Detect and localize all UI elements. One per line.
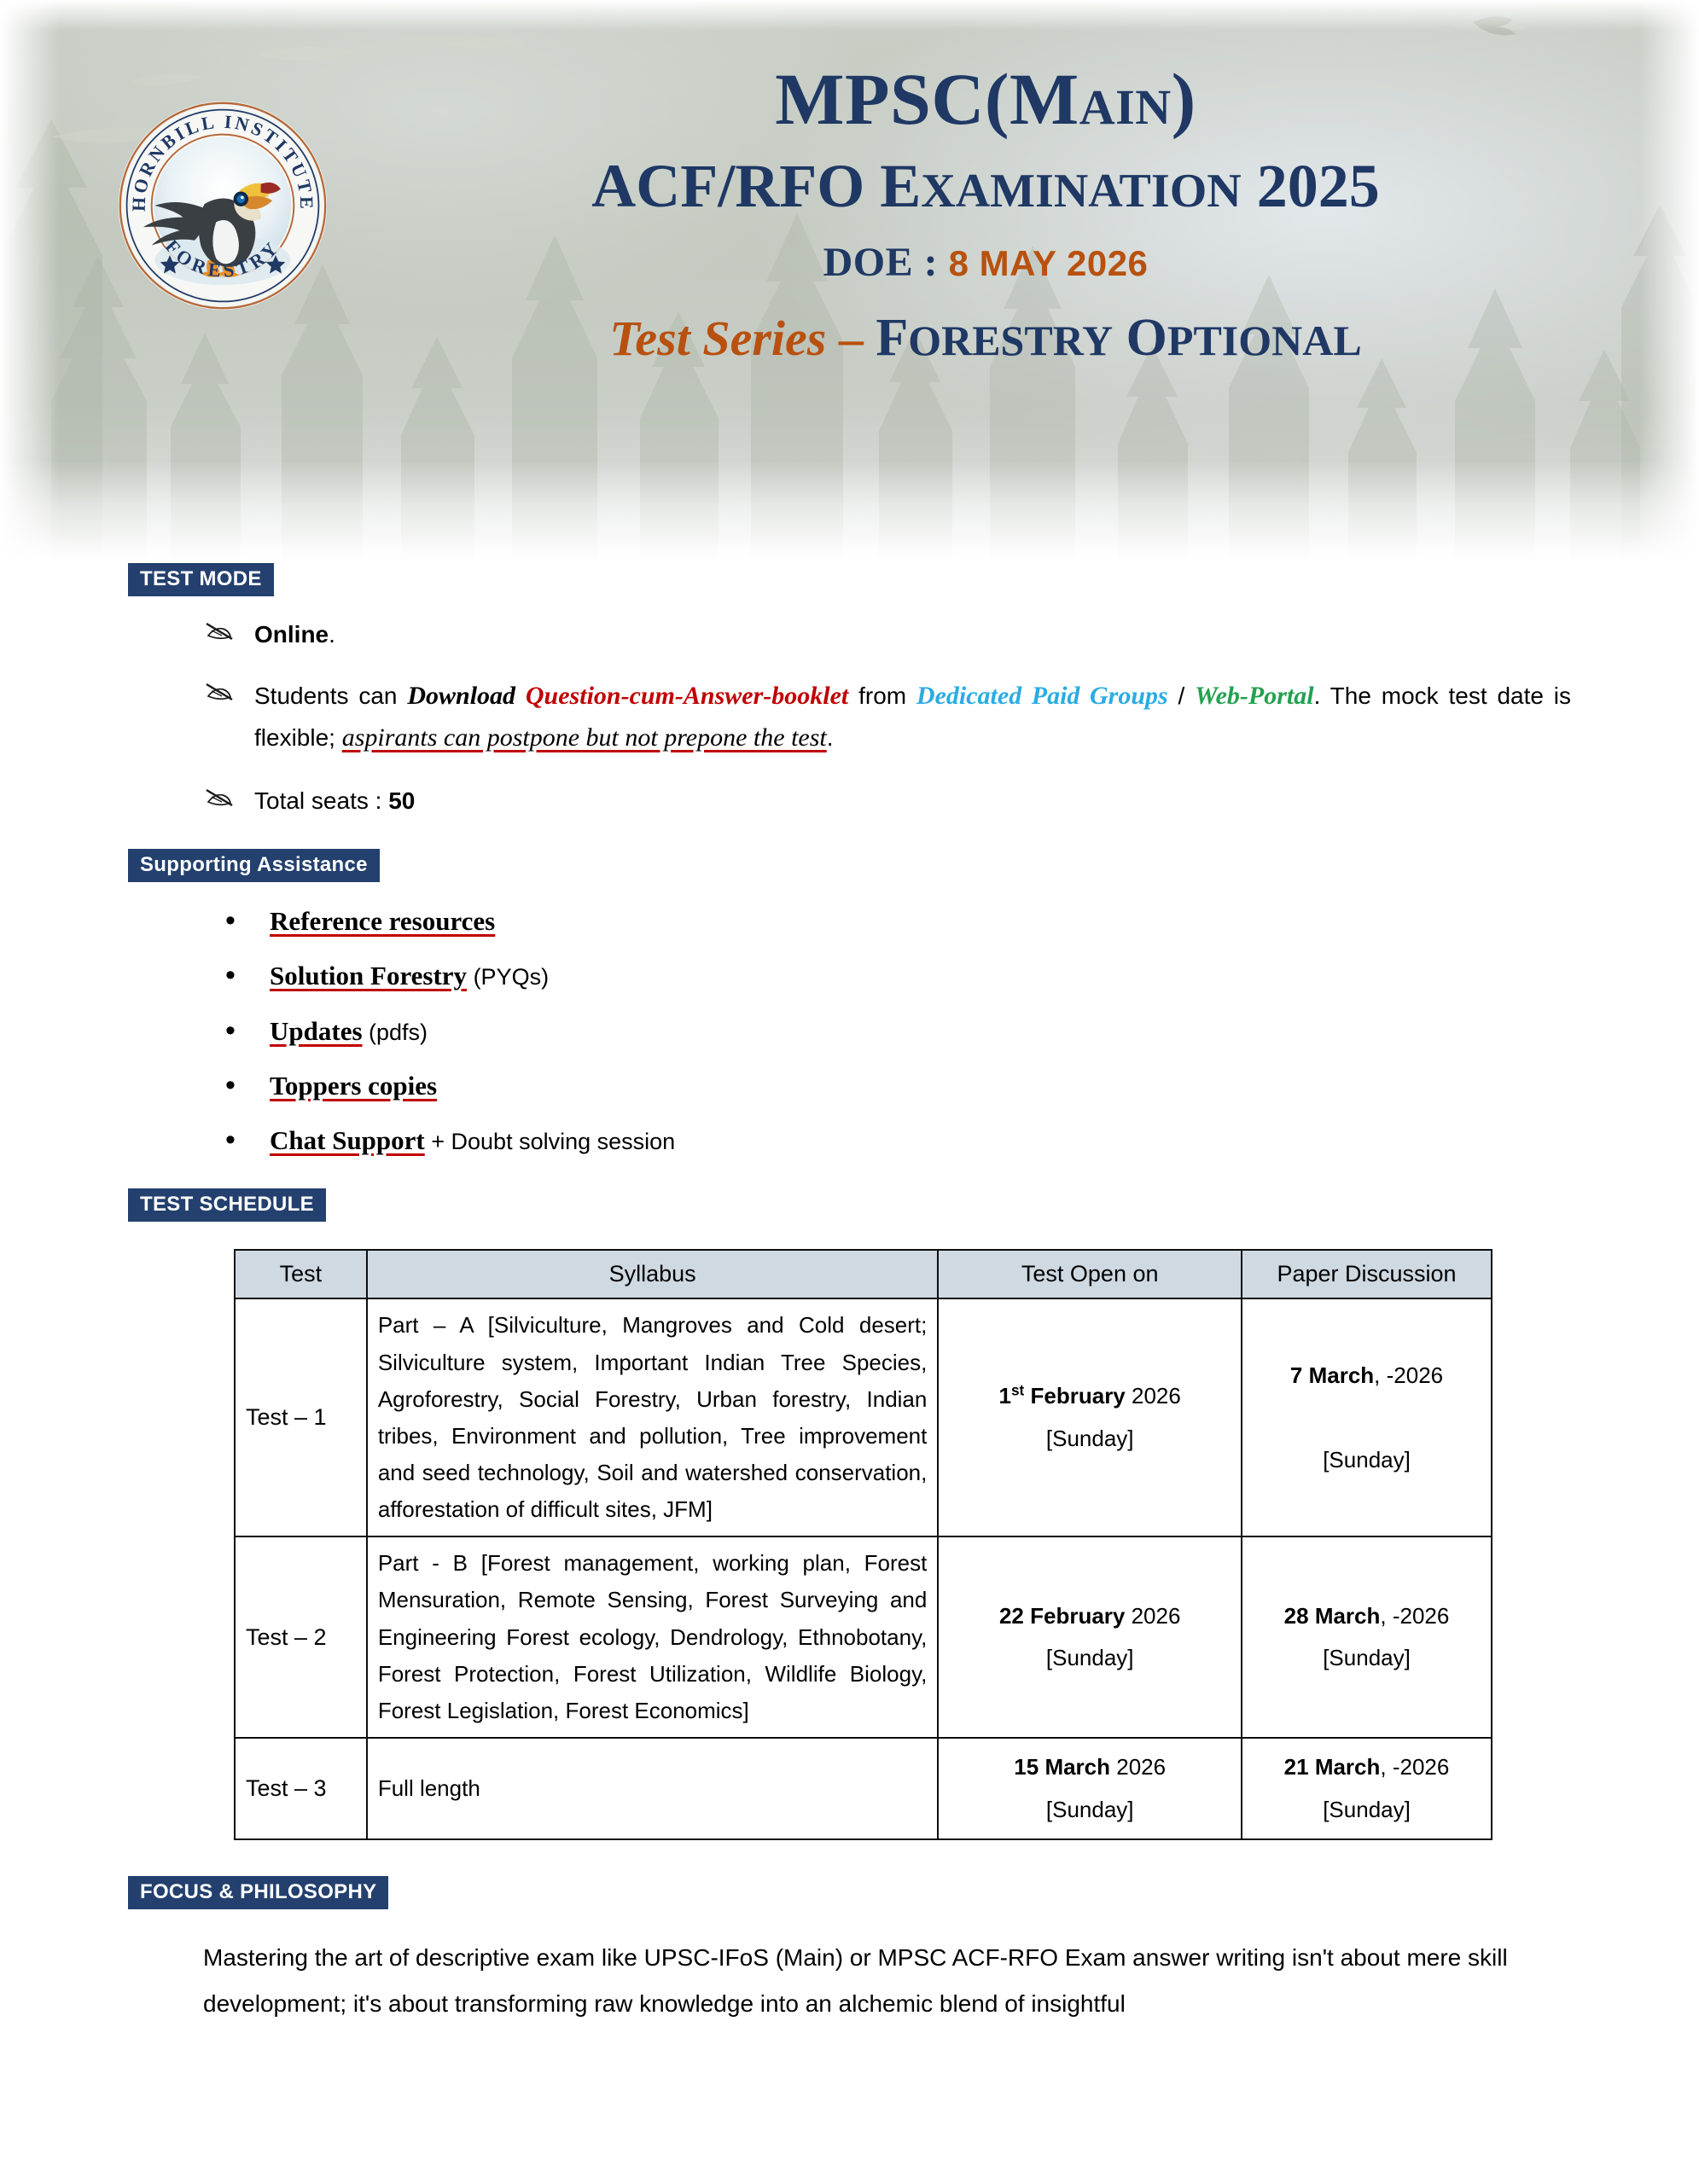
open-date-ordinal: st	[1011, 1382, 1024, 1399]
list-item: Toppers copies	[220, 1069, 1571, 1103]
support-item-solution-forestry: Solution Forestry	[270, 961, 467, 990]
students-can-text: Students can	[254, 682, 407, 709]
open-date-year: 2026	[1126, 1383, 1181, 1409]
title-mpsc-main-caps: AIN	[1079, 79, 1172, 135]
discussion-weekday: [Sunday]	[1323, 1447, 1411, 1472]
list-item: Online.	[203, 615, 1571, 653]
series-dash: –	[826, 311, 876, 366]
column-header-syllabus: Syllabus	[367, 1250, 939, 1298]
series-f: F	[876, 309, 908, 367]
discussion-year: , -2026	[1380, 1603, 1449, 1629]
badge-test-schedule: TEST SCHEDULE	[128, 1188, 326, 1222]
doe-date: 8 MAY 2026	[949, 243, 1149, 283]
column-header-test: Test	[235, 1250, 367, 1298]
cell-test-open-on: 1st February 2026 [Sunday]	[938, 1298, 1242, 1536]
title-mpsc-paren-close: )	[1172, 58, 1196, 140]
hornbill-institute-logo: HORNBILL INSTITUTE FORESTRY	[115, 98, 330, 313]
question-cum-answer-booklet-label: Question-cum-Answer-booklet	[526, 682, 848, 710]
support-item-4-tail: + Doubt solving session	[425, 1129, 675, 1154]
download-label: Download	[407, 682, 515, 710]
list-item: Chat Support + Doubt solving session	[220, 1124, 1571, 1158]
document-page: HORNBILL INSTITUTE FORESTRY MPSC(MAIN) A…	[0, 0, 1699, 2184]
discussion-date: 21 March	[1284, 1754, 1381, 1780]
test-mode-section-header: TEST MODE	[128, 563, 1571, 596]
title-line-acf: ACF/RFO EXAMINATION 2025	[367, 153, 1604, 220]
open-date-year: 2026	[1125, 1603, 1180, 1629]
open-date-month: March	[1039, 1754, 1110, 1780]
support-item-updates: Updates	[270, 1016, 363, 1046]
table-row: Test – 1 Part – A [Silviculture, Mangrov…	[235, 1298, 1492, 1536]
doe-label: DOE :	[823, 240, 949, 285]
discussion-weekday: [Sunday]	[1323, 1797, 1411, 1822]
test-mode-list: Online. Students can Download Question-c…	[203, 615, 1571, 820]
banner-top-fade	[0, 0, 1699, 31]
supporting-assistance-section-header: Supporting Assistance	[128, 849, 1571, 882]
supporting-assistance-list: Reference resources Solution Forestry (P…	[203, 904, 1571, 1158]
column-header-test-open-on: Test Open on	[938, 1250, 1242, 1298]
table-row: Test – 3 Full length 15 March 2026 [Sund…	[235, 1738, 1492, 1839]
open-date-weekday: [Sunday]	[1046, 1426, 1134, 1451]
series-o: O	[1126, 309, 1167, 367]
series-orestry: ORESTRY	[908, 317, 1113, 364]
header-banner: HORNBILL INSTITUTE FORESTRY MPSC(MAIN) A…	[0, 0, 1699, 563]
pen-bullet-icon	[203, 785, 237, 810]
open-date-day-num: 22	[999, 1603, 1024, 1629]
title-line-doe: DOE : 8 MAY 2026	[367, 239, 1604, 286]
title-mpsc-paren-open: (M	[985, 58, 1079, 140]
title-acf-exam-e: E	[880, 152, 921, 220]
cell-syllabus: Part – A [Silviculture, Mangroves and Co…	[367, 1298, 939, 1536]
cell-test-open-on: 15 March 2026 [Sunday]	[938, 1738, 1242, 1839]
test-mode-online-label: Online	[254, 621, 329, 648]
series-test-series-text: Test Series	[609, 311, 826, 366]
list-item: Total seats : 50	[203, 781, 1571, 820]
cell-syllabus: Part - B [Forest management, working pla…	[367, 1536, 939, 1738]
focus-philosophy-section-header: FOCUS & PHILOSOPHY	[128, 1876, 1571, 1909]
from-text: from	[848, 682, 916, 709]
document-body: TEST MODE Online. Students can Download …	[0, 563, 1699, 2028]
open-date-month: February	[1024, 1603, 1126, 1629]
title-acf-exam-caps: XAMINATION	[921, 165, 1241, 218]
cell-paper-discussion: 7 March, -2026 [Sunday]	[1242, 1298, 1492, 1536]
discussion-year: , -2026	[1380, 1754, 1449, 1780]
pen-bullet-icon	[203, 679, 237, 705]
cell-paper-discussion: 28 March, -2026 [Sunday]	[1242, 1536, 1492, 1738]
space-1	[515, 682, 526, 709]
support-item-toppers-copies: Toppers copies	[270, 1071, 437, 1101]
banner-bottom-fade	[0, 461, 1699, 563]
total-seats-label: Total seats :	[254, 787, 388, 814]
support-item-2-tail: (pdfs)	[363, 1019, 428, 1045]
focus-philosophy-paragraph: Mastering the art of descriptive exam li…	[203, 1935, 1571, 2028]
sentence-period: .	[827, 724, 834, 751]
discussion-date: 7 March	[1290, 1362, 1374, 1388]
title-acf-main: ACF/RFO	[591, 152, 864, 220]
slash-separator: /	[1168, 682, 1195, 709]
list-item: Students can Download Question-cum-Answe…	[203, 676, 1571, 758]
table-header-row: Test Syllabus Test Open on Paper Discuss…	[235, 1250, 1492, 1298]
banner-title-block: MPSC(MAIN) ACF/RFO EXAMINATION 2025 DOE …	[367, 60, 1604, 369]
open-date-year: 2026	[1110, 1754, 1166, 1780]
open-date-day-num: 15	[1014, 1754, 1039, 1780]
list-item: Reference resources	[220, 904, 1571, 938]
postpone-not-prepone-note: aspirants can postpone but not prepone t…	[342, 723, 827, 752]
list-item: Solution Forestry (PYQs)	[220, 959, 1571, 993]
open-date-day-num: 1	[999, 1383, 1011, 1409]
dedicated-paid-groups-link[interactable]: Dedicated Paid Groups	[916, 682, 1168, 710]
title-mpsc-main: MPSC	[775, 58, 985, 140]
pen-bullet-icon	[203, 619, 237, 644]
cell-test-name: Test – 2	[235, 1536, 367, 1738]
title-acf-year: 2025	[1257, 152, 1380, 220]
test-mode-online-period: .	[329, 621, 335, 648]
cell-test-open-on: 22 February 2026 [Sunday]	[938, 1536, 1242, 1738]
list-item: Updates (pdfs)	[220, 1014, 1571, 1048]
discussion-date: 28 March	[1284, 1603, 1381, 1629]
test-schedule-table: Test Syllabus Test Open on Paper Discuss…	[234, 1249, 1492, 1840]
badge-supporting-assistance: Supporting Assistance	[128, 849, 380, 882]
series-ptional: PTIONAL	[1167, 317, 1362, 364]
test-schedule-section-header: TEST SCHEDULE	[128, 1188, 1571, 1222]
cell-paper-discussion: 21 March, -2026 [Sunday]	[1242, 1738, 1492, 1839]
support-item-chat-support: Chat Support	[270, 1125, 425, 1155]
open-date-month: February	[1024, 1383, 1126, 1409]
series-forestry-optional: FORESTRY OPTIONAL	[876, 309, 1361, 367]
title-line-mpsc: MPSC(MAIN)	[367, 60, 1604, 139]
web-portal-link[interactable]: Web-Portal	[1195, 682, 1313, 710]
badge-test-mode: TEST MODE	[128, 563, 274, 596]
support-item-1-tail: (PYQs)	[467, 964, 549, 990]
discussion-year: , -2026	[1374, 1362, 1443, 1388]
support-item-reference-resources: Reference resources	[270, 906, 495, 936]
open-date-weekday: [Sunday]	[1046, 1645, 1134, 1670]
total-seats-value: 50	[388, 787, 415, 814]
cell-test-name: Test – 3	[235, 1738, 367, 1839]
title-line-series: Test Series – FORESTRY OPTIONAL	[367, 308, 1604, 369]
cell-syllabus: Full length	[367, 1738, 939, 1839]
column-header-paper-discussion: Paper Discussion	[1242, 1250, 1492, 1298]
table-row: Test – 2 Part - B [Forest management, wo…	[235, 1536, 1492, 1738]
discussion-weekday: [Sunday]	[1323, 1645, 1411, 1670]
cell-test-name: Test – 1	[235, 1298, 367, 1536]
badge-focus-philosophy: FOCUS & PHILOSOPHY	[128, 1876, 388, 1909]
open-date-weekday: [Sunday]	[1046, 1797, 1134, 1822]
